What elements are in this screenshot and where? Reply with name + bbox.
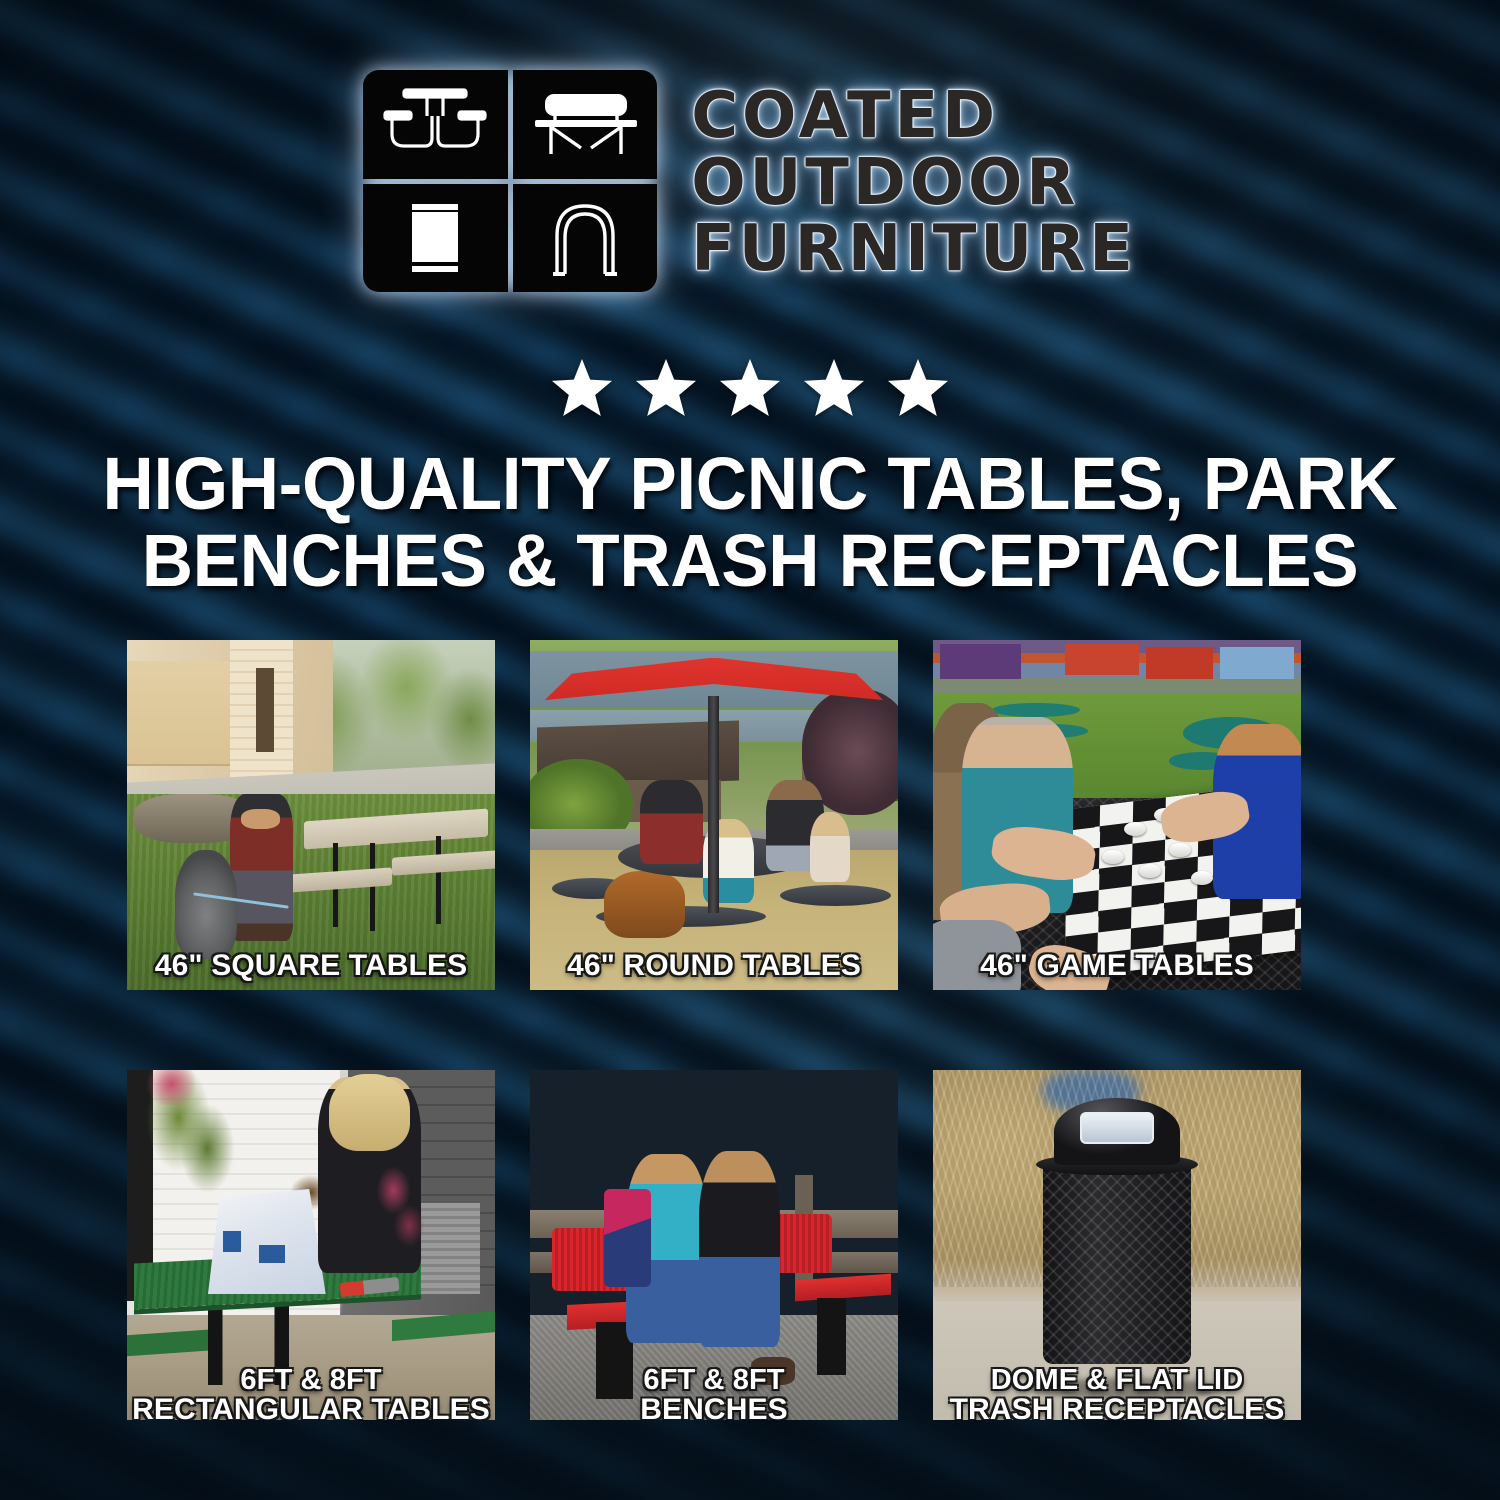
caption-line-2: BENCHES: [534, 1395, 894, 1420]
product-card-square-tables[interactable]: 46" SQUARE TABLES: [127, 640, 495, 990]
product-card-benches[interactable]: 6FT & 8FT BENCHES: [530, 1070, 898, 1420]
caption-line-1: 46" GAME TABLES: [937, 951, 1297, 982]
caption-line-1: 46" ROUND TABLES: [534, 951, 894, 982]
page-headline: HIGH-QUALITY PICNIC TABLES, PARK BENCHES…: [88, 446, 1413, 600]
product-card-trash-receptacles[interactable]: DOME & FLAT LID TRASH RECEPTACLES: [933, 1070, 1301, 1420]
product-caption: 6FT & 8FT RECTANGULAR TABLES: [127, 1366, 495, 1420]
arch-bike-rack-icon: [513, 184, 658, 293]
product-photo-game-tables: [933, 640, 1301, 990]
caption-line-1: 6FT & 8FT: [131, 1366, 491, 1396]
product-caption: 46" ROUND TABLES: [530, 951, 898, 982]
product-card-game-tables[interactable]: 46" GAME TABLES: [933, 640, 1301, 990]
caption-line-2: TRASH RECEPTACLES: [937, 1395, 1297, 1420]
product-caption: 46" GAME TABLES: [933, 951, 1301, 982]
star-icon-2: [635, 358, 697, 418]
star-icon-1: [551, 358, 613, 418]
promo-page: COATED OUTDOOR FURNITURE HIGH-QUALITY PI…: [0, 0, 1500, 1500]
brand-line-3: FURNITURE: [691, 218, 1137, 281]
park-bench-icon: [513, 70, 658, 179]
brand-line-1: COATED: [691, 85, 1137, 148]
star-icon-5: [887, 358, 949, 418]
caption-line-1: DOME & FLAT LID: [937, 1366, 1297, 1396]
caption-line-1: 46" SQUARE TABLES: [131, 951, 491, 982]
product-card-round-tables[interactable]: 46" ROUND TABLES: [530, 640, 898, 990]
product-card-rectangular-tables[interactable]: 6FT & 8FT RECTANGULAR TABLES: [127, 1070, 495, 1420]
headline-line-2: BENCHES & TRASH RECEPTACLES: [88, 523, 1413, 600]
product-caption: DOME & FLAT LID TRASH RECEPTACLES: [933, 1366, 1301, 1420]
product-photo-square-tables: [127, 640, 495, 990]
product-photo-round-tables: [530, 640, 898, 990]
logo-icon-grid: [363, 70, 657, 292]
headline-line-1: HIGH-QUALITY PICNIC TABLES, PARK: [88, 446, 1413, 523]
product-caption: 6FT & 8FT BENCHES: [530, 1366, 898, 1420]
product-caption: 46" SQUARE TABLES: [127, 951, 495, 982]
caption-line-2: RECTANGULAR TABLES: [131, 1395, 491, 1420]
star-icon-4: [803, 358, 865, 418]
brand-name: COATED OUTDOOR FURNITURE: [691, 81, 1137, 281]
product-category-grid: 46" SQUARE TABLES 46" ROUND TABLES: [127, 640, 1373, 1420]
trash-receptacle-icon: [363, 184, 508, 293]
caption-line-1: 6FT & 8FT: [534, 1366, 894, 1396]
star-icon-3: [719, 358, 781, 418]
picnic-table-icon: [363, 70, 508, 179]
brand-logo: COATED OUTDOOR FURNITURE: [0, 70, 1500, 292]
star-rating: [0, 358, 1500, 418]
brand-line-2: OUTDOOR: [691, 152, 1137, 215]
